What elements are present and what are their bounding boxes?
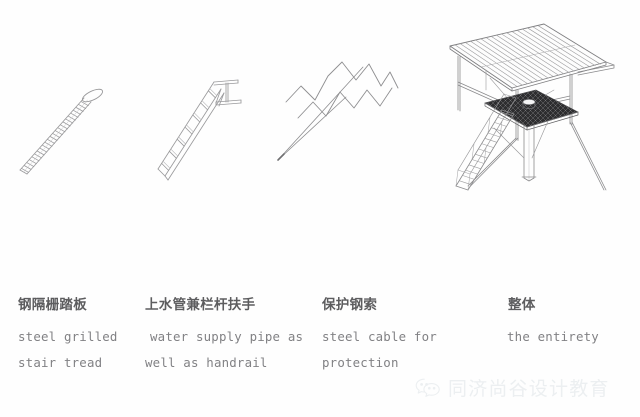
caption-cn-label: 整体 xyxy=(508,296,599,315)
stair-with-handrail-drawing xyxy=(146,72,256,187)
screenshot-root: 钢隔栅踏板 steel grilled stair tread 上水管兼栏杆扶手… xyxy=(0,0,640,417)
caption-steel-grilled-stair-tread: 钢隔栅踏板 steel grilled stair tread xyxy=(18,296,118,376)
caption-cn-label: 钢隔栅踏板 xyxy=(18,296,118,315)
caption-en-label: water supply pipe as well as handrail xyxy=(145,324,303,376)
watermark: 同济尚谷设计教育 xyxy=(415,374,610,401)
caption-cn-label: 保护钢索 xyxy=(322,296,437,315)
caption-water-supply-pipe-handrail: 上水管兼栏杆扶手 water supply pipe as well as ha… xyxy=(145,296,303,376)
caption-en-line: stair tread xyxy=(18,350,118,376)
caption-en-label: the entirety xyxy=(507,324,599,350)
caption-steel-cable-protection: 保护钢索 steel cable for protection xyxy=(322,296,437,376)
caption-en-line: steel cable for xyxy=(322,324,437,350)
steel-grating-strip-drawing xyxy=(8,78,118,188)
figure-steel-cable xyxy=(268,42,404,178)
caption-cn-label: 上水管兼栏杆扶手 xyxy=(145,296,303,315)
caption-en-line: water supply pipe as xyxy=(145,324,303,350)
steel-cable-zigzag-drawing xyxy=(268,42,404,178)
drawings-band xyxy=(0,0,640,296)
watermark-text: 同济尚谷设计教育 xyxy=(448,374,610,401)
caption-en-line: well as handrail xyxy=(145,350,303,376)
caption-en-label: steel grilled stair tread xyxy=(18,324,118,376)
caption-en-line: steel grilled xyxy=(18,324,118,350)
caption-en-line: protection xyxy=(322,350,437,376)
wechat-logo xyxy=(415,377,441,399)
figure-steel-grilled-stair-tread xyxy=(8,78,118,188)
elevated-pavilion-drawing xyxy=(428,18,618,193)
figure-the-entirety xyxy=(428,18,618,193)
caption-the-entirety: 整体 the entirety xyxy=(508,296,599,350)
figure-stair-with-handrail xyxy=(146,72,256,187)
caption-en-line: the entirety xyxy=(507,324,599,350)
caption-en-label: steel cable for protection xyxy=(322,324,437,376)
